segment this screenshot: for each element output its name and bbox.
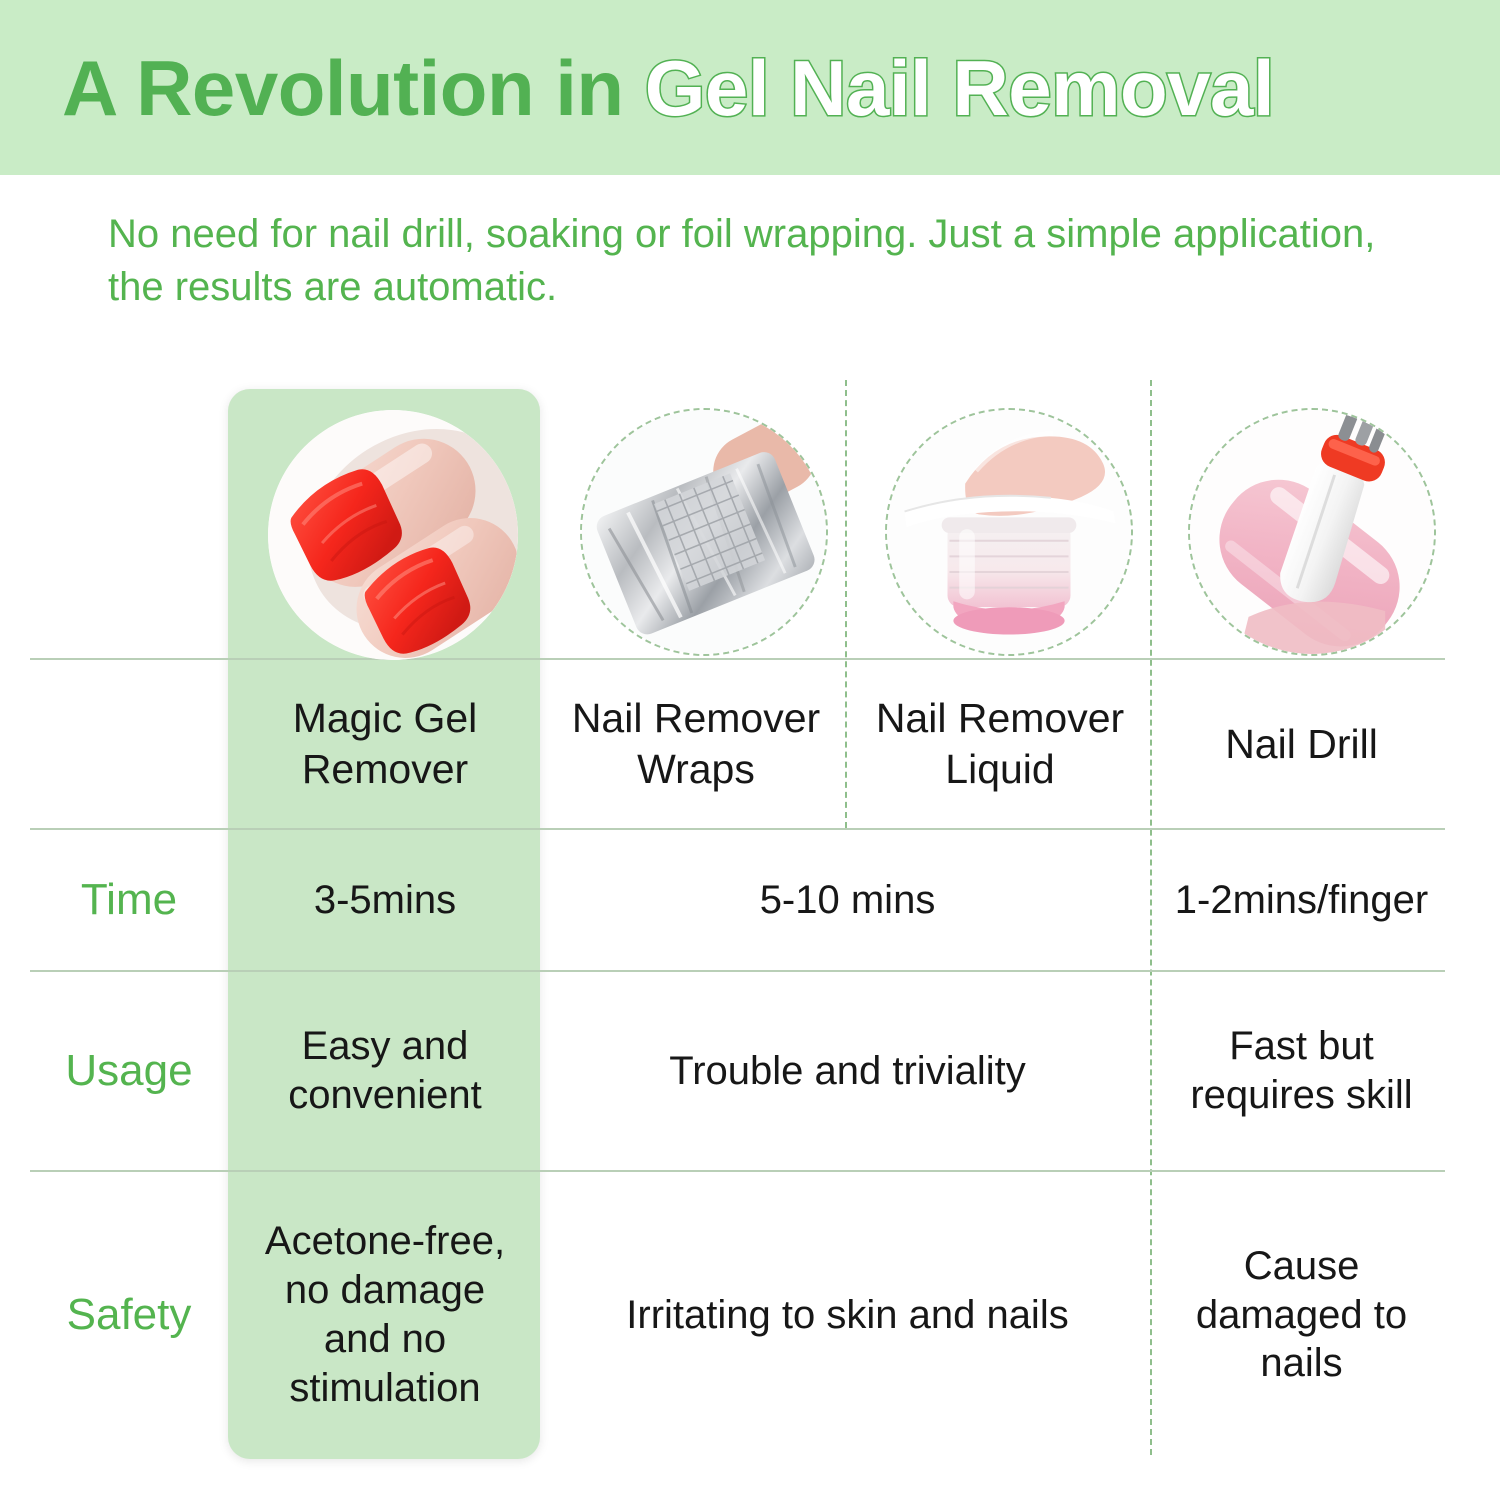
product-image-nail-remover-wraps [580,408,828,656]
column-divider-2-3 [845,380,847,828]
row-label-time: Time [30,832,228,968]
product-image-magic-gel-remover [268,410,518,660]
row-label-safety: Safety [30,1174,228,1456]
column-header-magic-gel-remover: Magic Gel Remover [240,662,530,826]
row-divider-usage-safety [30,1170,1445,1172]
header-banner: A Revolution in Gel Nail Removal [0,0,1500,175]
product-image-nail-drill [1188,408,1436,656]
column-header-nail-remover-liquid: Nail Remover Liquid [855,662,1145,826]
column-divider-3-4 [1150,380,1152,1455]
page-title-part2: Gel Nail Removal [645,44,1274,132]
row-divider-time-usage [30,970,1445,972]
row-divider-header-top [30,658,1445,660]
comparison-table: Magic Gel Remover Nail Remover Wraps Nai… [0,370,1500,1470]
cell-time-nail-drill: 1-2mins/finger [1158,832,1445,968]
subtitle-text: No need for nail drill, soaking or foil … [108,208,1428,314]
cell-time-wraps-and-liquid: 5-10 mins [550,832,1145,968]
column-header-nail-remover-wraps: Nail Remover Wraps [550,662,842,826]
cell-usage-nail-drill: Fast but requires skill [1158,974,1445,1168]
column-header-nail-drill: Nail Drill [1158,662,1445,826]
product-image-nail-remover-liquid [885,408,1133,656]
page-title-part1: A Revolution in [62,44,645,132]
cell-usage-wraps-and-liquid: Trouble and triviality [550,974,1145,1168]
cell-safety-wraps-and-liquid: Irritating to skin and nails [550,1174,1145,1456]
cell-usage-magic-gel-remover: Easy and convenient [240,974,530,1168]
row-label-usage: Usage [30,974,228,1168]
cell-safety-magic-gel-remover: Acetone-free, no damage and no stimulati… [240,1174,530,1456]
cell-time-magic-gel-remover: 3-5mins [240,832,530,968]
page-title: A Revolution in Gel Nail Removal [62,49,1274,127]
row-divider-header-time [30,828,1445,830]
cell-safety-nail-drill: Cause damaged to nails [1158,1174,1445,1456]
